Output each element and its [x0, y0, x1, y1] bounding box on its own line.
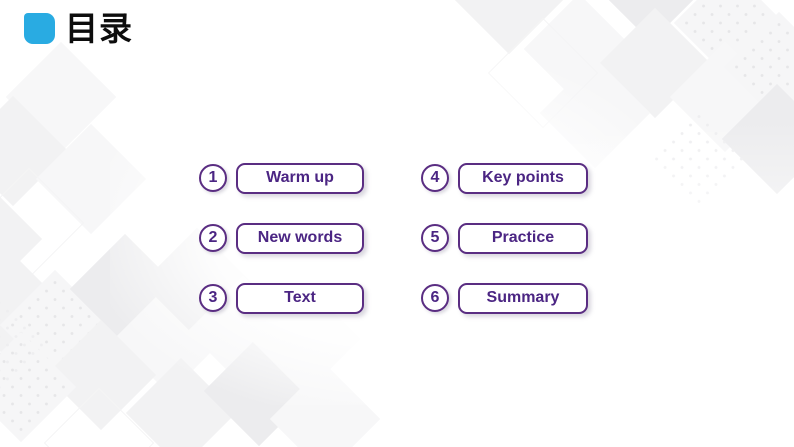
deco-diamond-dotted	[644, 104, 754, 214]
deco-diamond	[0, 96, 68, 206]
menu-item-practice[interactable]: 5 Practice	[421, 208, 643, 268]
deco-diamond	[204, 336, 314, 446]
deco-diamond	[0, 184, 42, 294]
menu-number-badge: 4	[421, 164, 449, 192]
menu-number-badge: 1	[199, 164, 227, 192]
deco-diamond	[0, 246, 60, 356]
menu-item-warm-up[interactable]: 1 Warm up	[199, 148, 421, 208]
menu-number-badge: 6	[421, 284, 449, 312]
deco-diamond-dotted	[0, 290, 54, 400]
menu-pill[interactable]: Text	[236, 283, 364, 314]
page-title: 目录	[65, 12, 133, 45]
deco-diamond	[596, 0, 706, 42]
deco-diamond	[270, 364, 380, 447]
menu-item-text[interactable]: 3 Text	[199, 268, 421, 328]
deco-diamond-dotted	[674, 0, 784, 78]
slide-canvas: 目录 1 Warm up 4 Key points 2 New words 5 …	[0, 0, 794, 447]
deco-diamond	[600, 8, 710, 118]
menu-pill[interactable]: Practice	[458, 223, 588, 254]
deco-diamond	[6, 42, 116, 152]
menu-item-label: Key points	[482, 170, 564, 186]
deco-diamond	[722, 84, 794, 194]
deco-diamond	[46, 320, 156, 430]
menu-pill[interactable]: Key points	[458, 163, 588, 194]
deco-diamond	[488, 18, 598, 128]
menu-item-new-words[interactable]: 2 New words	[199, 208, 421, 268]
deco-diamond	[126, 358, 236, 447]
menu-pill[interactable]: New words	[236, 223, 364, 254]
deco-diamond	[524, 0, 634, 104]
menu-item-label: Text	[284, 290, 316, 306]
menu-item-label: New words	[258, 230, 342, 246]
blue-rounded-square-icon	[24, 13, 55, 44]
deco-diamond-dotted	[724, 12, 794, 122]
menu-pill[interactable]: Summary	[458, 283, 588, 314]
deco-diamond	[670, 42, 780, 152]
menu-item-summary[interactable]: 6 Summary	[421, 268, 643, 328]
menu-item-label: Summary	[487, 290, 560, 306]
menu-number-badge: 2	[199, 224, 227, 252]
deco-diamond	[0, 168, 84, 278]
slide-header: 目录	[24, 12, 133, 45]
menu-item-label: Practice	[492, 230, 554, 246]
deco-diamond-dotted	[0, 270, 110, 380]
deco-diamond	[44, 388, 154, 447]
contents-menu: 1 Warm up 4 Key points 2 New words 5 Pra…	[199, 148, 643, 328]
menu-number-badge: 5	[421, 224, 449, 252]
menu-pill[interactable]: Warm up	[236, 163, 364, 194]
deco-diamond-dotted	[0, 332, 76, 442]
menu-item-key-points[interactable]: 4 Key points	[421, 148, 643, 208]
menu-number-badge: 3	[199, 284, 227, 312]
deco-diamond	[454, 0, 564, 54]
menu-item-label: Warm up	[266, 170, 334, 186]
deco-diamond	[36, 124, 146, 234]
deco-diamond	[70, 234, 180, 344]
